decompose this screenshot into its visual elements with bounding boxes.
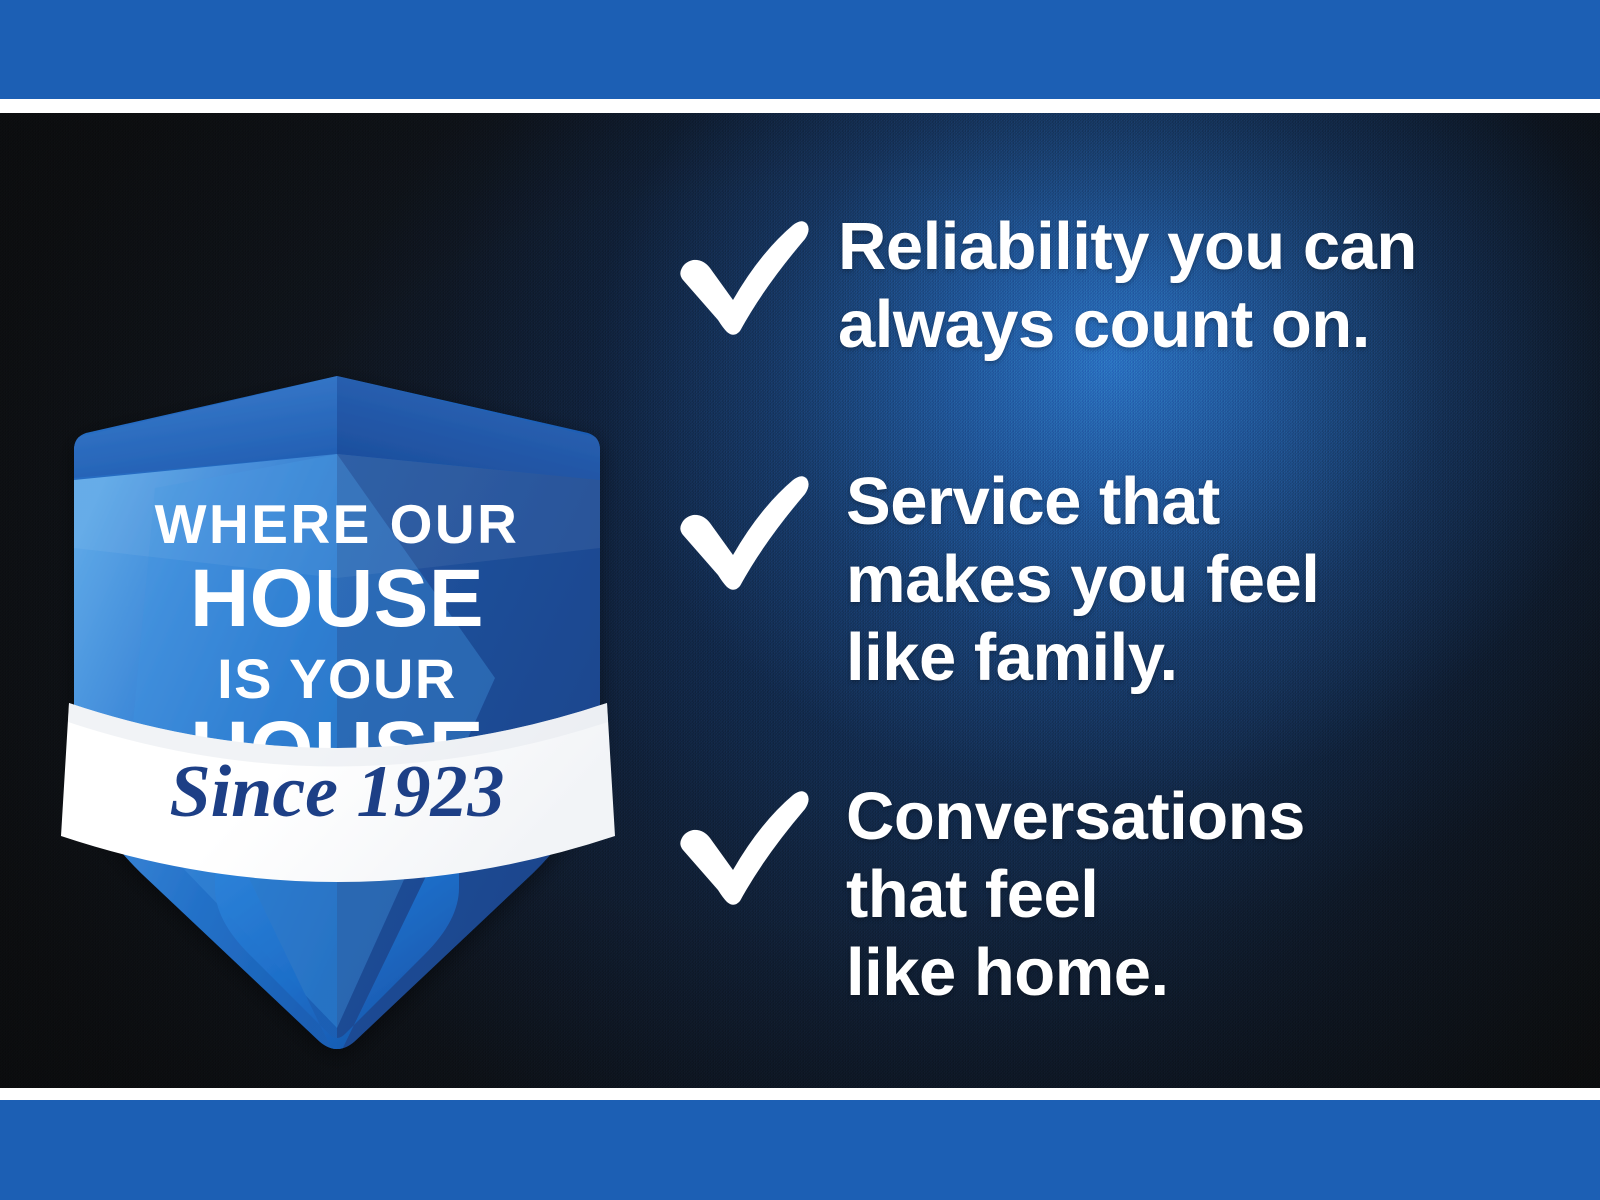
checkmark-icon bbox=[676, 473, 810, 591]
shield-badge-logo: WHERE OUR HOUSE IS YOUR HOUSE Since 1923 bbox=[55, 248, 615, 928]
list-item-text: Service that makes you feel like family. bbox=[846, 463, 1566, 697]
shield-line-2: HOUSE bbox=[190, 553, 484, 644]
checkmark-icon bbox=[676, 788, 810, 906]
list-item-text: Reliability you can always count on. bbox=[838, 208, 1558, 364]
top-brand-bar bbox=[0, 0, 1600, 99]
shield-line-1: WHERE OUR bbox=[155, 493, 520, 555]
artwork-stage: WHERE OUR HOUSE IS YOUR HOUSE Since 1923 bbox=[0, 113, 1600, 1088]
shield-line-3: IS YOUR bbox=[217, 647, 457, 710]
graphic-frame: WHERE OUR HOUSE IS YOUR HOUSE Since 1923 bbox=[0, 0, 1600, 1200]
list-item-text: Conversations that feel like home. bbox=[846, 778, 1566, 1012]
ribbon-text: Since 1923 bbox=[169, 751, 504, 833]
checkmark-icon bbox=[676, 218, 810, 336]
bottom-brand-bar bbox=[0, 1100, 1600, 1200]
